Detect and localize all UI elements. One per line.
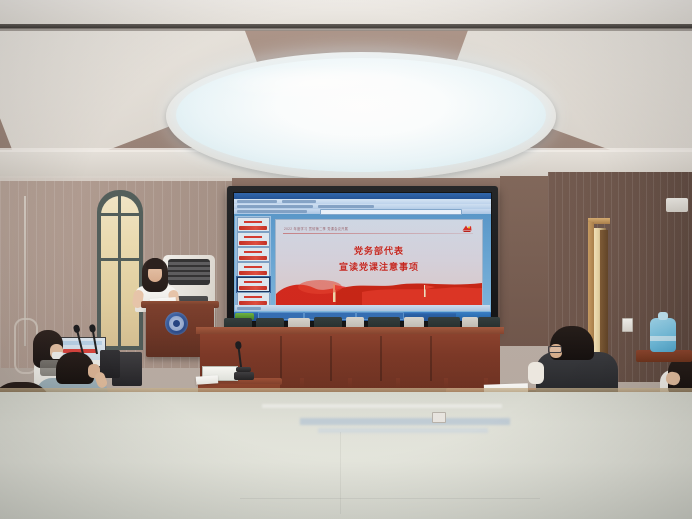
dais-seam xyxy=(330,336,332,381)
desk-paper xyxy=(196,375,219,385)
slide-divider xyxy=(283,233,473,234)
ceiling-rail-highlight xyxy=(0,28,692,31)
slide-thumbnail[interactable] xyxy=(237,262,270,277)
floor-tile-seam xyxy=(240,498,540,499)
menu-items[interactable] xyxy=(237,200,277,203)
slide-title-line-2: 宣读党课注意事项 xyxy=(276,260,482,273)
microphone-base xyxy=(234,372,254,380)
slide-thumbnail-pane[interactable] xyxy=(235,216,271,310)
slide-thumbnail-selected[interactable] xyxy=(237,277,270,292)
toolbar-buttons[interactable] xyxy=(237,205,313,208)
window-mullion-vertical xyxy=(118,196,121,346)
window-mullion-horizontal xyxy=(101,258,139,261)
conference-dais-top xyxy=(196,327,504,334)
floor-reflection xyxy=(318,428,488,433)
audience-sleeve xyxy=(528,362,544,384)
wall-ac-vent-icon xyxy=(666,198,688,212)
status-text xyxy=(237,307,261,310)
power-outlet-icon xyxy=(432,412,446,423)
slide-thumbnail[interactable] xyxy=(237,217,270,232)
powerpoint-slide[interactable]: 2022 年度学习 贯彻第二季 党课会议开展 党务部代表 宣读党课注意事项 xyxy=(275,219,483,307)
toolbar-buttons[interactable] xyxy=(318,205,374,208)
conference-room-photo: 2022 年度学习 贯彻第二季 党课会议开展 党务部代表 宣读党课注意事项 xyxy=(0,0,692,519)
floor-reflection xyxy=(300,418,510,425)
menu-items[interactable] xyxy=(282,200,316,203)
vent-slat xyxy=(168,267,210,270)
light-switch-icon[interactable] xyxy=(622,318,633,332)
microphone-console xyxy=(236,367,251,372)
water-bottle-neck xyxy=(658,312,668,320)
slide-thumbnail[interactable] xyxy=(237,232,270,247)
slide-red-landscape-graphic xyxy=(276,276,482,306)
windows-desktop[interactable]: 2022 年度学习 贯彻第二季 党课会议开展 党务部代表 宣读党课注意事项 xyxy=(234,193,491,321)
slide-thumbnail[interactable] xyxy=(237,247,270,262)
air-conditioner-vent-icon xyxy=(168,259,210,285)
dais-seam xyxy=(380,336,382,381)
ceiling-light-gloss xyxy=(220,66,420,100)
wall-left-trim xyxy=(0,176,232,181)
ceiling-top-strip xyxy=(0,0,692,26)
dais-seam xyxy=(430,336,432,381)
floor-reflection xyxy=(262,404,502,408)
water-dispenser-bottle xyxy=(650,318,676,352)
window-arch-bar xyxy=(101,213,139,216)
slide-title-line-1: 党务部代表 xyxy=(276,244,482,257)
formatting-buttons[interactable] xyxy=(237,210,307,213)
microphone-head-icon xyxy=(235,341,242,350)
floor xyxy=(0,392,692,519)
vent-slat xyxy=(168,277,210,280)
toolbar-address-field[interactable] xyxy=(320,209,462,215)
podium-emblem-center xyxy=(173,320,180,327)
dais-seam xyxy=(280,336,282,381)
vent-slat xyxy=(168,272,210,275)
speaker-fringe xyxy=(146,258,164,269)
slide-header-text: 2022 年度学习 贯彻第二季 党课会议开展 xyxy=(284,226,348,231)
party-emblem-icon xyxy=(461,224,473,233)
powerpoint-status-bar xyxy=(235,305,490,311)
floor-tile-seam xyxy=(340,432,341,514)
glasses-icon xyxy=(548,346,562,353)
water-bottle-label xyxy=(650,336,676,341)
vent-slat xyxy=(168,262,210,265)
